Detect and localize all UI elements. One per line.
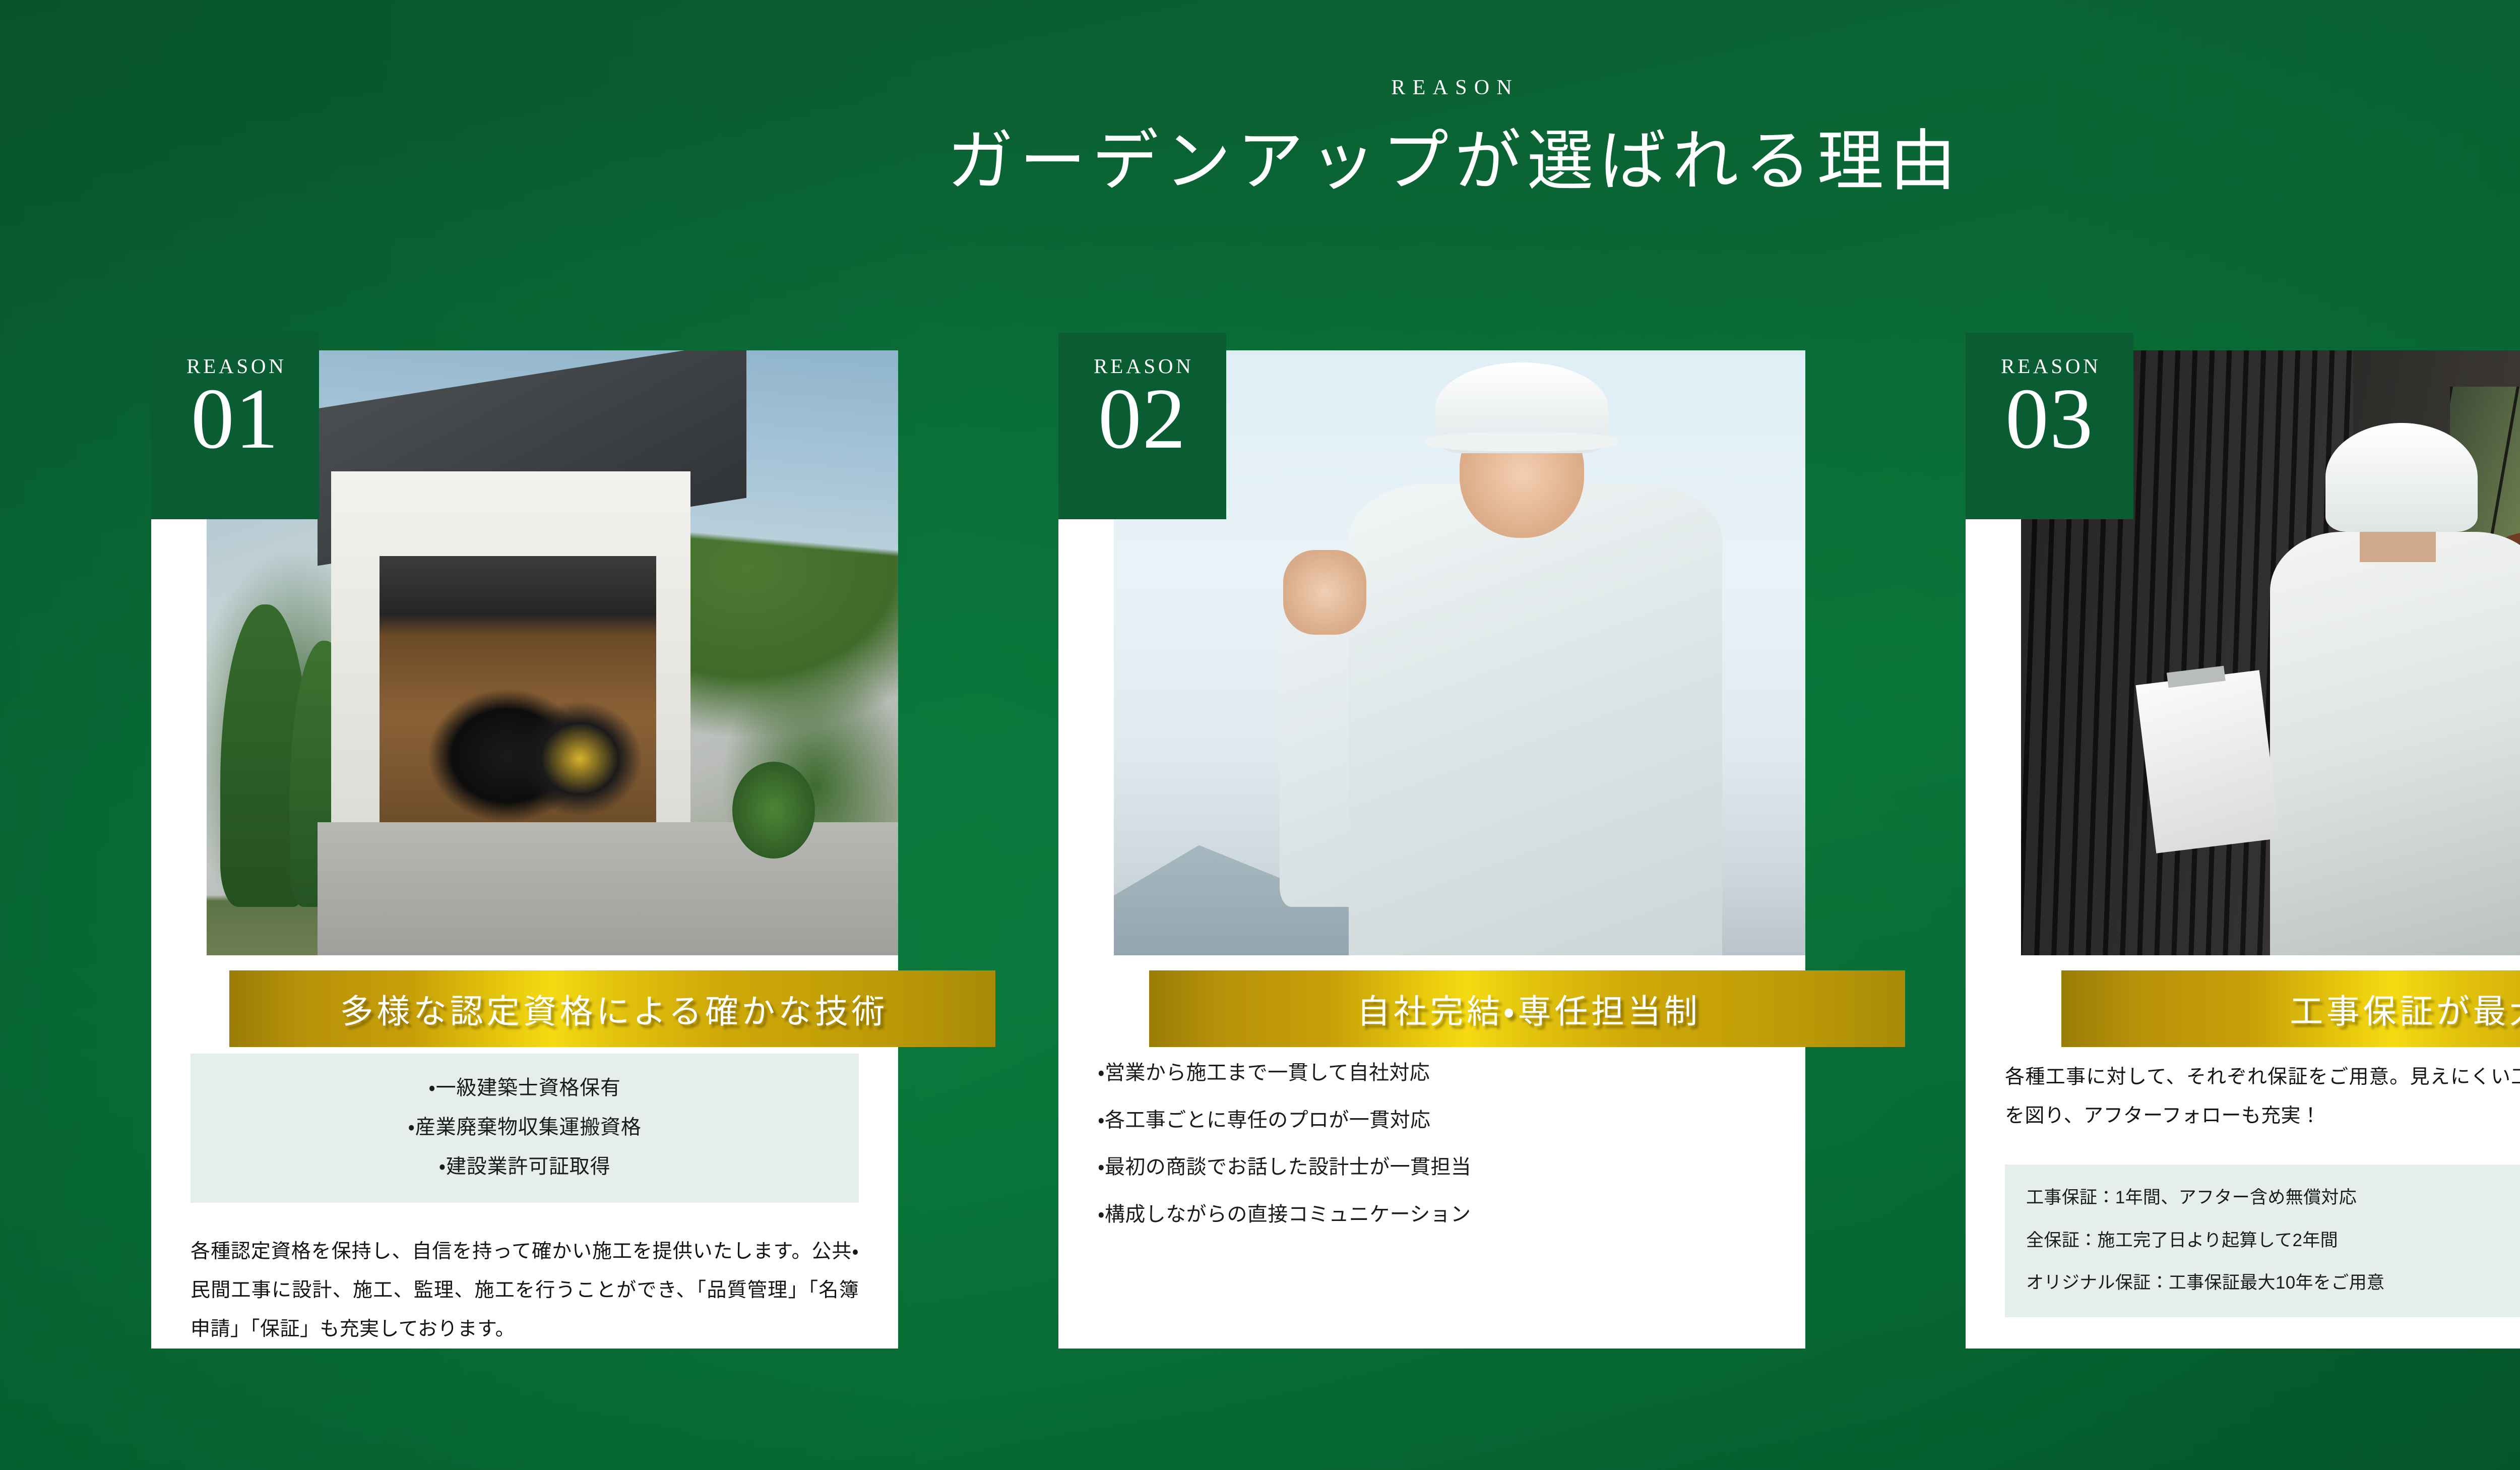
badge-number: 01 [191,375,279,463]
card-banner: 自社完結・専任担当制 [1149,970,1905,1047]
highlight-box: ・一級建築士資格保有 ・産業廃棄物収集運搬資格 ・建設業許可証取得 [191,1054,859,1203]
bullet-item: ・各工事ごとに専任のプロが一貫対応 [1098,1108,1766,1133]
page-title: ガーデンアップが選ばれる理由 [0,122,2520,202]
card-content: ・一級建築士資格保有 ・産業廃棄物収集運搬資格 ・建設業許可証取得 各種認定資格… [151,1054,898,1349]
reason-card-02[interactable]: ・営業から施工まで一貫して自社対応 ・各工事ごとに専任のプロが一貫対応 ・最初の… [1058,350,1805,1349]
bullet-item: ・営業から施工まで一貫して自社対応 [1098,1061,1766,1086]
card-paragraph: 各種認定資格を保持し、自信を持って確かい施工を提供いたします。公共・民間工事に設… [191,1232,859,1349]
card-paragraph: 各種工事に対して、それぞれ保証をご用意。見えにくい工事に対し可視化を図り、アフタ… [2005,1058,2520,1135]
bullet-item: ・最初の商談でお話した設計士が一貫担当 [1098,1155,1766,1180]
card-banner: 多様な認定資格による確かな技術 [229,970,995,1047]
reason-number-badge: REASON 01 [151,333,319,519]
reason-card-03[interactable]: 各種工事に対して、それぞれ保証をご用意。見えにくい工事に対し可視化を図り、アフタ… [1966,350,2520,1349]
warranty-item: オリジナル保証：工事保証最大10年をご用意 [2026,1272,2520,1294]
highlight-item: ・一級建築士資格保有 [428,1076,621,1100]
highlight-item: ・建設業許可証取得 [439,1154,611,1179]
badge-number: 02 [1098,375,1186,463]
warranty-item: 全保証：施工完了日より起算して2年間 [2026,1230,2520,1252]
card-content: 各種工事に対して、それぞれ保証をご用意。見えにくい工事に対し可視化を図り、アフタ… [1966,1054,2520,1317]
card-banner: 工事保証が最大10年 [2061,970,2520,1047]
warranty-item: 工事保証：1年間、アフター含め無償対応 [2026,1187,2520,1209]
reason-number-badge: REASON 03 [1966,333,2133,519]
bullet-item: ・構成しながらの直接コミュニケーション [1098,1202,1766,1228]
reason-card-list: ・一級建築士資格保有 ・産業廃棄物収集運搬資格 ・建設業許可証取得 各種認定資格… [151,350,2520,1354]
warranty-box: 工事保証：1年間、アフター含め無償対応 全保証：施工完了日より起算して2年間 オ… [2005,1165,2520,1317]
highlight-item: ・産業廃棄物収集運搬資格 [408,1115,641,1139]
section-eyebrow: REASON [0,76,2520,100]
card-content: ・営業から施工まで一貫して自社対応 ・各工事ごとに専任のプロが一貫対応 ・最初の… [1058,1054,1805,1249]
badge-number: 03 [2005,375,2094,463]
banner-title: 多様な認定資格による確かな技術 [337,985,888,1033]
banner-title: 工事保証が最大10年 [2287,985,2520,1033]
section-header: REASON ガーデンアップが選ばれる理由 [0,76,2520,202]
reason-card-01[interactable]: ・一級建築士資格保有 ・産業廃棄物収集運搬資格 ・建設業許可証取得 各種認定資格… [151,350,898,1349]
banner-title: 自社完結・専任担当制 [1353,985,1700,1033]
bullet-list: ・営業から施工まで一貫して自社対応 ・各工事ごとに専任のプロが一貫対応 ・最初の… [1098,1054,1766,1227]
reason-number-badge: REASON 02 [1058,333,1226,519]
